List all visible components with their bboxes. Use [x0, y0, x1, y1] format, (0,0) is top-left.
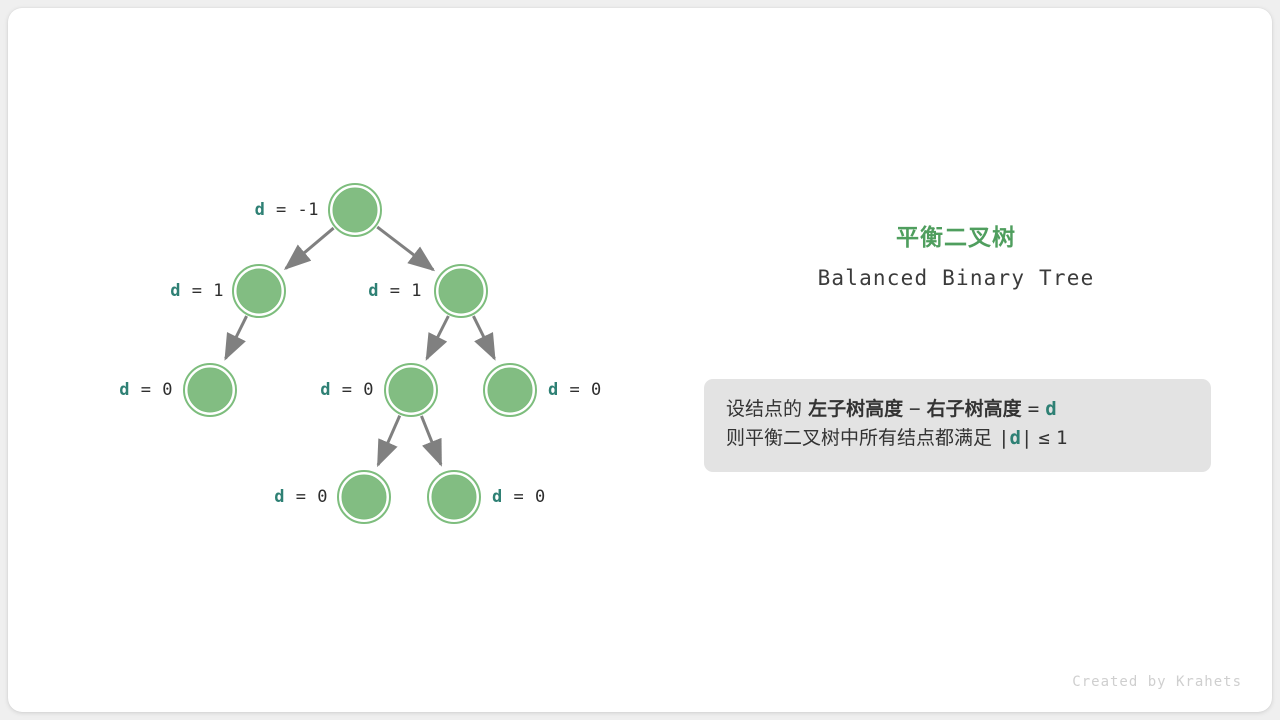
- node-label-value: = -1: [265, 200, 319, 220]
- node-label-variable: d: [368, 281, 379, 301]
- definition-box: 设结点的 左子树高度 − 右子树高度 = d 则平衡二叉树中所有结点都满足 |d…: [704, 379, 1211, 472]
- credit-text: Created by Krahets: [1072, 674, 1242, 690]
- tree-node: [428, 471, 480, 523]
- tree-node: [184, 364, 236, 416]
- node-label-variable: d: [170, 281, 181, 301]
- diagram-card: d = -1d = 1d = 1d = 0d = 0d = 0d = 0d = …: [8, 8, 1272, 712]
- tree-node: [233, 265, 285, 317]
- node-balance-label: d = 0: [119, 380, 173, 400]
- info-panel: 平衡二叉树 Balanced Binary Tree: [668, 218, 1244, 290]
- node-label-value: = 0: [559, 380, 602, 400]
- tree-node-core: [188, 368, 232, 412]
- tree-node-core: [333, 188, 377, 232]
- node-label-variable: d: [492, 487, 503, 507]
- tree-node: [435, 265, 487, 317]
- tree-edge: [427, 316, 449, 359]
- tree-node-core: [439, 269, 483, 313]
- node-label-variable: d: [119, 380, 130, 400]
- condition-prefix: 则平衡二叉树中所有结点都满足: [726, 427, 992, 449]
- tree-node-core: [237, 269, 281, 313]
- node-label-value: = 0: [285, 487, 328, 507]
- node-label-variable: d: [255, 200, 266, 220]
- term-right-subtree-height: 右子树高度: [927, 398, 1022, 420]
- node-label-variable: d: [320, 380, 331, 400]
- tree-edge: [378, 416, 400, 465]
- tree-nodes: [184, 184, 536, 523]
- definition-prefix: 设结点的: [726, 398, 802, 420]
- tree-edges: [226, 227, 495, 465]
- definition-line-1: 设结点的 左子树高度 − 右子树高度 = d: [726, 395, 1189, 424]
- node-label-value: = 0: [331, 380, 374, 400]
- definition-line-2: 则平衡二叉树中所有结点都满足 |d| ≤ 1: [726, 424, 1189, 453]
- less-equal-operator: ≤: [1038, 427, 1049, 449]
- abs-bar-close: |: [1021, 427, 1032, 449]
- node-balance-label: d = 1: [368, 281, 422, 301]
- tree-edge: [377, 227, 433, 270]
- variable-d-abs: d: [1010, 427, 1021, 449]
- tree-edge: [421, 416, 441, 465]
- node-label-variable: d: [548, 380, 559, 400]
- tree-node-core: [488, 368, 532, 412]
- node-balance-label: d = 0: [274, 487, 328, 507]
- binary-tree-graphic: [8, 8, 1272, 712]
- minus-operator: −: [909, 398, 920, 420]
- tree-node-core: [389, 368, 433, 412]
- abs-bar-open: |: [998, 427, 1009, 449]
- tree-edge: [226, 316, 247, 359]
- node-label-value: = 0: [130, 380, 173, 400]
- node-balance-label: d = 1: [170, 281, 224, 301]
- node-balance-label: d = -1: [255, 200, 319, 220]
- tree-node: [329, 184, 381, 236]
- equals-operator: =: [1028, 398, 1039, 420]
- tree-node-core: [432, 475, 476, 519]
- node-balance-label: d = 0: [492, 487, 546, 507]
- tree-edge: [286, 228, 334, 268]
- node-label-value: = 0: [503, 487, 546, 507]
- page-subtitle: Balanced Binary Tree: [668, 266, 1244, 290]
- term-left-subtree-height: 左子树高度: [808, 398, 903, 420]
- node-balance-label: d = 0: [320, 380, 374, 400]
- bound-value: 1: [1056, 427, 1067, 449]
- tree-node: [338, 471, 390, 523]
- node-label-value: = 1: [379, 281, 422, 301]
- tree-edge: [473, 316, 494, 359]
- node-label-variable: d: [274, 487, 285, 507]
- tree-node-core: [342, 475, 386, 519]
- node-balance-label: d = 0: [548, 380, 602, 400]
- page-title: 平衡二叉树: [668, 218, 1244, 252]
- variable-d: d: [1045, 398, 1056, 420]
- tree-node: [385, 364, 437, 416]
- node-label-value: = 1: [181, 281, 224, 301]
- tree-node: [484, 364, 536, 416]
